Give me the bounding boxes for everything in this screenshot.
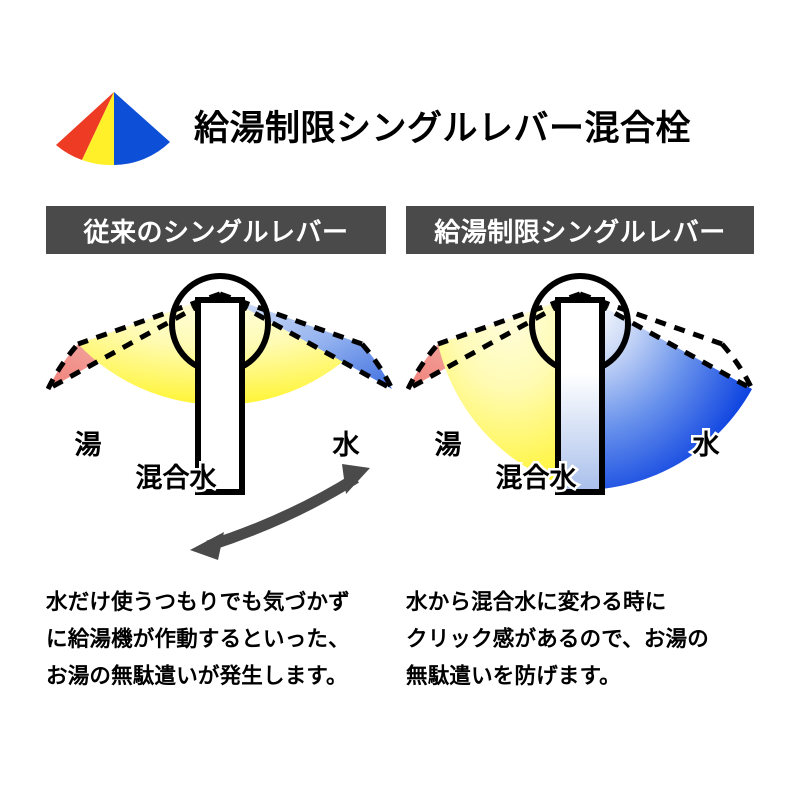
fan-logo <box>52 88 172 168</box>
caption-line: クリック感があるので、お湯の <box>406 621 754 658</box>
label-mixed: 混合水 <box>496 463 578 493</box>
caption-conventional: 水だけ使うつもりでも気づかず に給湯機が作動するといった、 お湯の無駄遣いが発生… <box>46 584 394 695</box>
label-cold: 水 <box>332 430 361 460</box>
diagram-restricted: 湯 混合水 水 <box>406 272 754 572</box>
label-cold: 水 <box>692 430 721 460</box>
page-title: 給湯制限シングルレバー混合栓 <box>194 111 691 146</box>
swing-arrow-head-right <box>342 464 370 494</box>
caption-line: 水だけ使うつもりでも気づかず <box>46 584 394 621</box>
caption-restricted: 水から混合水に変わる時に クリック感があるので、お湯の 無駄遣いを防げます。 <box>406 584 754 695</box>
label-hot: 湯 <box>435 430 462 460</box>
fan-logo-blue-wedge <box>114 92 170 165</box>
caption-line: に給湯機が作動するといった、 <box>46 621 394 658</box>
panel-restricted: 給湯制限シングルレバー <box>406 206 754 695</box>
diagram-conventional: 湯 混合水 水 <box>46 272 394 572</box>
diagram-conventional-svg: 湯 混合水 水 <box>46 272 394 572</box>
label-mixed: 混合水 <box>136 463 218 493</box>
panel-conventional: 従来のシングルレバー <box>46 206 394 695</box>
caption-line: 水から混合水に変わる時に <box>406 584 754 621</box>
diagram-restricted-svg: 湯 混合水 水 <box>406 272 754 572</box>
swing-arrow-head-left <box>190 532 224 560</box>
caption-line: お湯の無駄遣いが発生します。 <box>46 658 394 695</box>
panel-header-restricted: 給湯制限シングルレバー <box>406 206 754 254</box>
page-header: 給湯制限シングルレバー混合栓 <box>0 78 800 178</box>
caption-line: 無駄遣いを防げます。 <box>406 658 754 695</box>
panel-header-conventional: 従来のシングルレバー <box>46 206 386 254</box>
label-hot: 湯 <box>75 430 102 460</box>
